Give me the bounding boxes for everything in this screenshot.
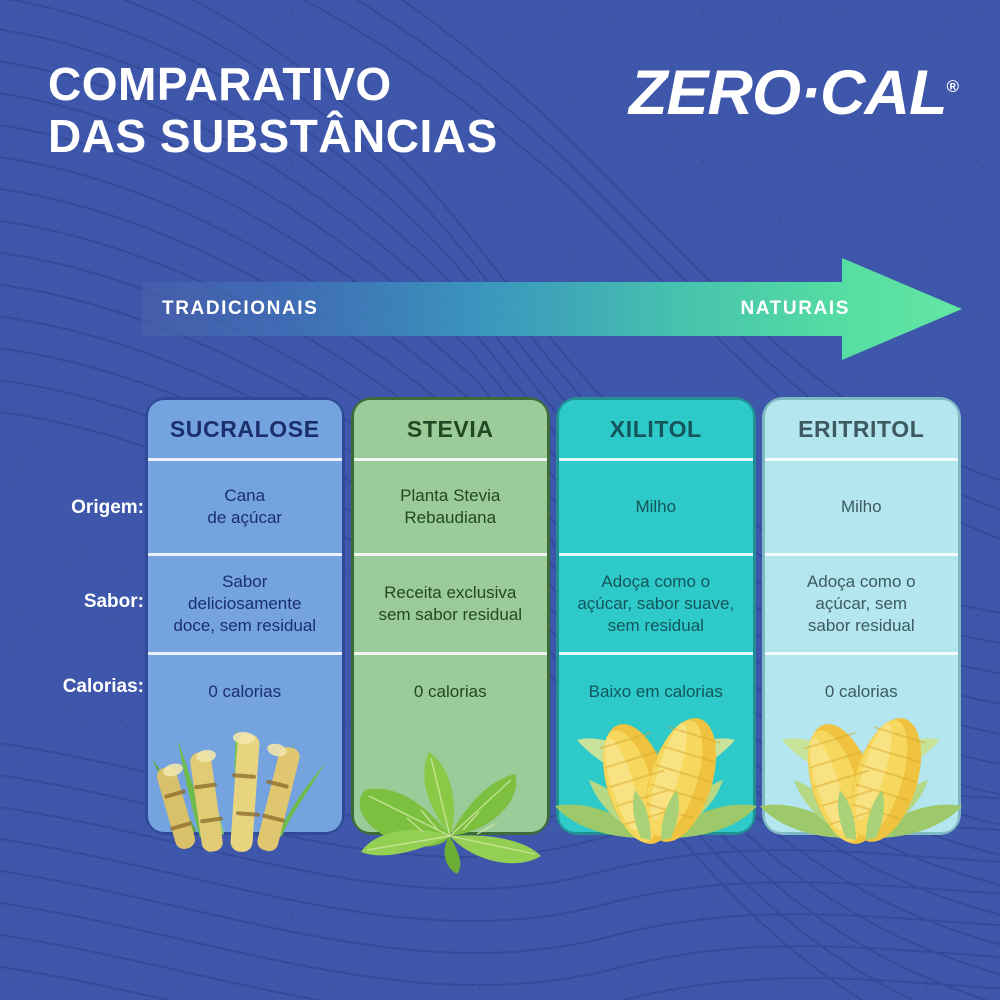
- scale-label-traditional: TRADICIONAIS: [162, 298, 318, 320]
- comparison-table: SUCRALOSE Canade açúcar Sabordeliciosame…: [148, 400, 958, 832]
- cell-flavor-xilitol: Adoça como oaçúcar, sabor suave,sem resi…: [559, 556, 753, 652]
- cell-origin-sucralose: Canade açúcar: [148, 461, 342, 553]
- column-header-xilitol: XILITOL: [559, 400, 753, 458]
- row-label-calories: Calorias:: [28, 650, 144, 724]
- zerocal-logo-text: ZERO·CAL: [629, 58, 946, 128]
- column-card-stevia[interactable]: STEVIA Planta SteviaRebaudiana Receita e…: [354, 400, 548, 832]
- row-label-column: Origem: Sabor: Calorias:: [28, 462, 144, 724]
- row-label-flavor: Sabor:: [28, 554, 144, 650]
- cell-flavor-stevia: Receita exclusivasem sabor residual: [354, 556, 548, 652]
- infographic-root: COMPARATIVO DAS SUBSTÂNCIAS ZERO·CAL® TR…: [0, 0, 1000, 1000]
- cell-origin-stevia: Planta SteviaRebaudiana: [354, 461, 548, 553]
- column-card-eritritol[interactable]: ERITRITOL Milho Adoça como oaçúcar, sems…: [765, 400, 959, 832]
- column-header-sucralose: SUCRALOSE: [148, 400, 342, 458]
- page-title-line-2: DAS SUBSTÂNCIAS: [48, 110, 498, 162]
- column-card-xilitol[interactable]: XILITOL Milho Adoça como oaçúcar, sabor …: [559, 400, 753, 832]
- cell-calories-stevia: 0 calorias: [354, 655, 548, 729]
- column-header-eritritol: ERITRITOL: [765, 400, 959, 458]
- cell-flavor-sucralose: Sabordeliciosamentedoce, sem residual: [148, 556, 342, 652]
- traditional-to-natural-arrow: TRADICIONAIS NATURAIS: [142, 258, 962, 360]
- column-header-stevia: STEVIA: [354, 400, 548, 458]
- column-card-sucralose[interactable]: SUCRALOSE Canade açúcar Sabordeliciosame…: [148, 400, 342, 832]
- cell-origin-eritritol: Milho: [765, 461, 959, 553]
- row-label-origin: Origem:: [28, 462, 144, 554]
- cell-calories-eritritol: 0 calorias: [765, 655, 959, 729]
- cell-origin-xilitol: Milho: [559, 461, 753, 553]
- cell-calories-sucralose: 0 calorias: [148, 655, 342, 729]
- zerocal-logo: ZERO·CAL®: [629, 62, 958, 125]
- scale-label-natural: NATURAIS: [740, 298, 850, 320]
- page-title-line-1: COMPARATIVO: [48, 58, 392, 110]
- cell-flavor-eritritol: Adoça como oaçúcar, semsabor residual: [765, 556, 959, 652]
- cell-calories-xilitol: Baixo em calorias: [559, 655, 753, 729]
- registered-trademark-icon: ®: [946, 77, 958, 96]
- page-title: COMPARATIVO DAS SUBSTÂNCIAS: [48, 58, 498, 162]
